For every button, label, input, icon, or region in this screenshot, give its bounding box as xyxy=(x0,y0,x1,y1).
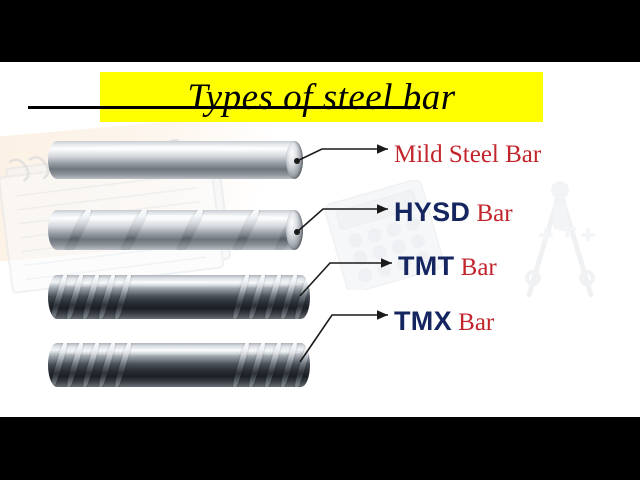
leader-mild xyxy=(297,149,388,161)
slide-stage: Types of steel bar xyxy=(0,0,640,480)
leader-tmt xyxy=(300,263,392,296)
leader-lines xyxy=(0,62,640,417)
leader-hysd xyxy=(297,209,388,232)
label-mild-steel-bar: Mild Steel Bar xyxy=(394,142,541,167)
label-hysd-bar: HYSD Bar xyxy=(394,199,513,226)
label-tmt-emphasis: TMT xyxy=(398,251,454,281)
label-hysd-rest: Bar xyxy=(470,200,512,227)
label-hysd-emphasis: HYSD xyxy=(394,197,470,227)
label-tmx-emphasis: TMX xyxy=(394,306,452,336)
label-tmt-bar: TMT Bar xyxy=(398,253,497,280)
label-tmx-bar: TMX Bar xyxy=(394,308,494,335)
leader-dots xyxy=(294,158,300,235)
label-tmt-rest: Bar xyxy=(454,254,496,281)
letterbox-bottom xyxy=(0,417,640,480)
letterbox-top xyxy=(0,0,640,62)
slide-canvas: Types of steel bar xyxy=(0,62,640,417)
label-tmx-rest: Bar xyxy=(452,309,494,336)
leader-tmx xyxy=(300,315,388,362)
